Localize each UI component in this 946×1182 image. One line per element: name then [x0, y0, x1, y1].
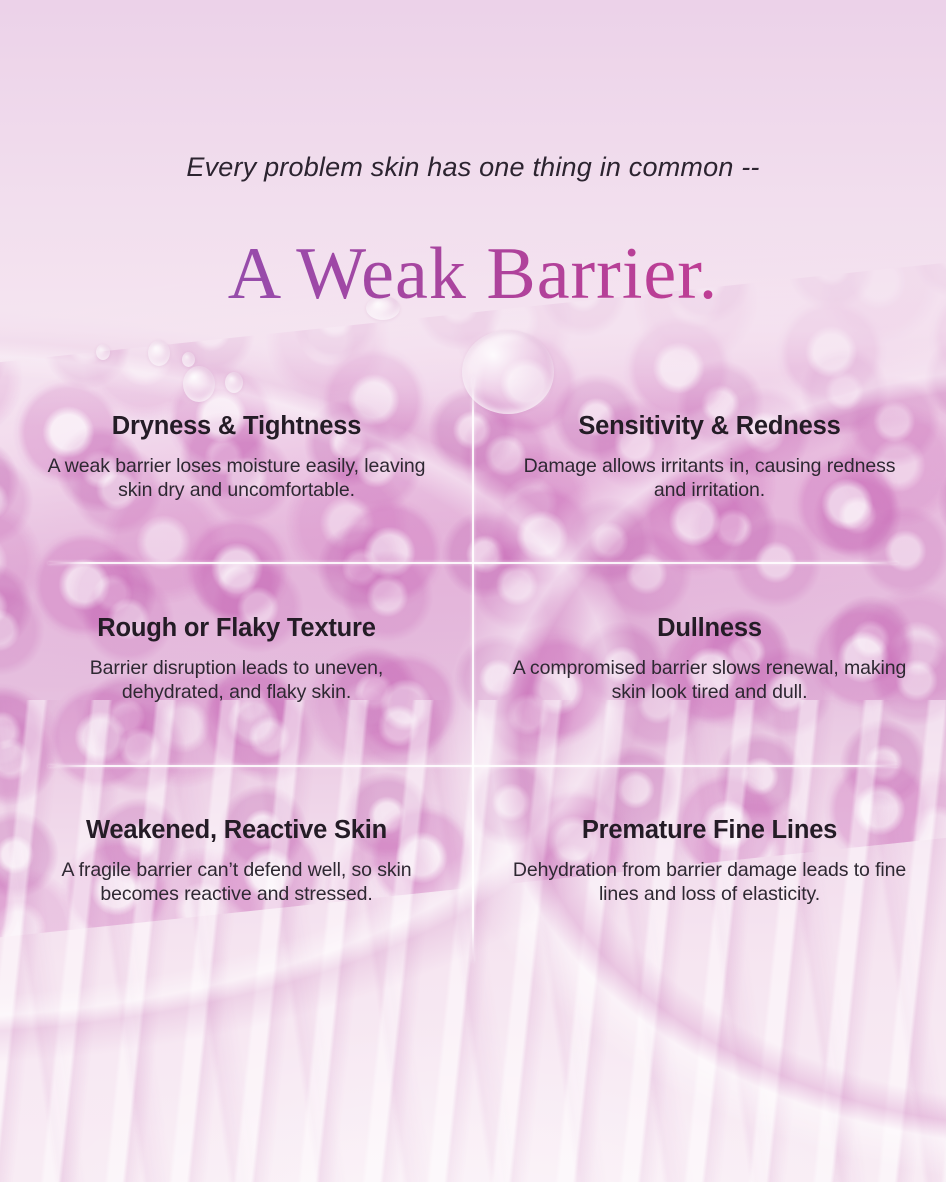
- symptom-row-3: Weakened, Reactive Skin A fragile barrie…: [0, 816, 946, 966]
- symptom-row-1: Dryness & Tightness A weak barrier loses…: [0, 412, 946, 614]
- symptom-card-sensitivity-redness: Sensitivity & Redness Damage allows irri…: [473, 412, 946, 614]
- symptom-card-body: Dehydration from barrier damage leads to…: [511, 859, 908, 907]
- symptom-card-title: Sensitivity & Redness: [511, 412, 908, 441]
- poster-content: Every problem skin has one thing in comm…: [0, 0, 946, 1182]
- symptom-card-weakened-reactive-skin: Weakened, Reactive Skin A fragile barrie…: [0, 816, 473, 966]
- page-title: A Weak Barrier.: [0, 236, 946, 314]
- symptom-card-rough-flaky-texture: Rough or Flaky Texture Barrier disruptio…: [0, 614, 473, 816]
- symptom-card-dryness-tightness: Dryness & Tightness A weak barrier loses…: [0, 412, 473, 614]
- symptom-grid: Dryness & Tightness A weak barrier loses…: [0, 412, 946, 966]
- symptom-card-body: A compromised barrier slows renewal, mak…: [511, 657, 908, 705]
- symptom-card-dullness: Dullness A compromised barrier slows ren…: [473, 614, 946, 816]
- symptom-card-body: A fragile barrier can’t defend well, so …: [38, 859, 435, 907]
- symptom-card-premature-fine-lines: Premature Fine Lines Dehydration from ba…: [473, 816, 946, 966]
- symptom-row-2: Rough or Flaky Texture Barrier disruptio…: [0, 614, 946, 816]
- symptom-card-title: Weakened, Reactive Skin: [38, 816, 435, 845]
- symptom-card-title: Dryness & Tightness: [38, 412, 435, 441]
- symptom-card-body: Damage allows irritants in, causing redn…: [511, 455, 908, 503]
- poster-canvas: Every problem skin has one thing in comm…: [0, 0, 946, 1182]
- symptom-card-title: Dullness: [511, 614, 908, 643]
- symptom-card-title: Rough or Flaky Texture: [38, 614, 435, 643]
- symptom-card-body: Barrier disruption leads to uneven, dehy…: [38, 657, 435, 705]
- symptom-card-body: A weak barrier loses moisture easily, le…: [38, 455, 435, 503]
- symptom-card-title: Premature Fine Lines: [511, 816, 908, 845]
- eyebrow-text: Every problem skin has one thing in comm…: [0, 152, 946, 183]
